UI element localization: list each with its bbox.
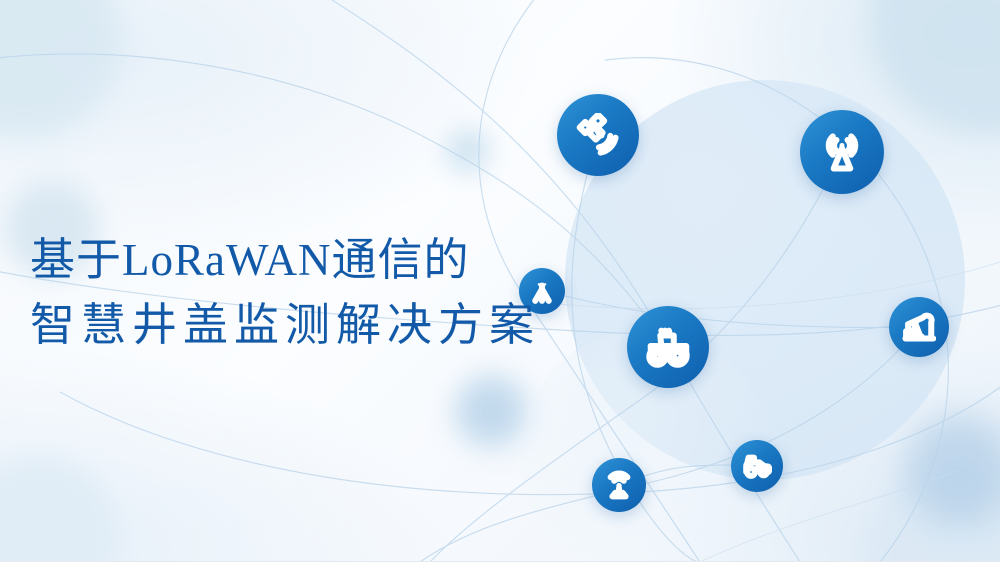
tractor-node[interactable] (627, 306, 709, 388)
tractor-icon (644, 323, 692, 371)
antenna-tower-icon (819, 129, 865, 175)
title-line-1: 基于LoRaWAN通信的 (30, 228, 570, 293)
satellite-icon (576, 113, 620, 157)
oil-pump-icon (902, 310, 936, 344)
background-blob-bottom-left (0, 455, 120, 562)
background-blob-top-left (0, 0, 122, 140)
title-slide: 基于LoRaWAN通信的 智慧井盖监测解决方案 (0, 0, 1000, 562)
title-line-2: 智慧井盖监测解决方案 (30, 293, 570, 358)
satellite-node[interactable] (557, 94, 639, 176)
title-block: 基于LoRaWAN通信的 智慧井盖监测解决方案 (30, 228, 570, 358)
background-blob-center (455, 375, 527, 447)
antenna-tower-node[interactable] (800, 110, 884, 194)
harvester-node[interactable] (731, 440, 783, 492)
oil-pump-node[interactable] (889, 297, 949, 357)
sensor-node[interactable] (592, 458, 646, 512)
background-blob-center-upper (445, 128, 491, 174)
background-blob-bottom-right (858, 470, 1000, 562)
background-blob-top-right (872, 0, 1000, 134)
harvester-icon (742, 451, 772, 481)
background-blob-bottom-right-accent (905, 415, 1000, 525)
sensor-node-icon (604, 470, 634, 500)
